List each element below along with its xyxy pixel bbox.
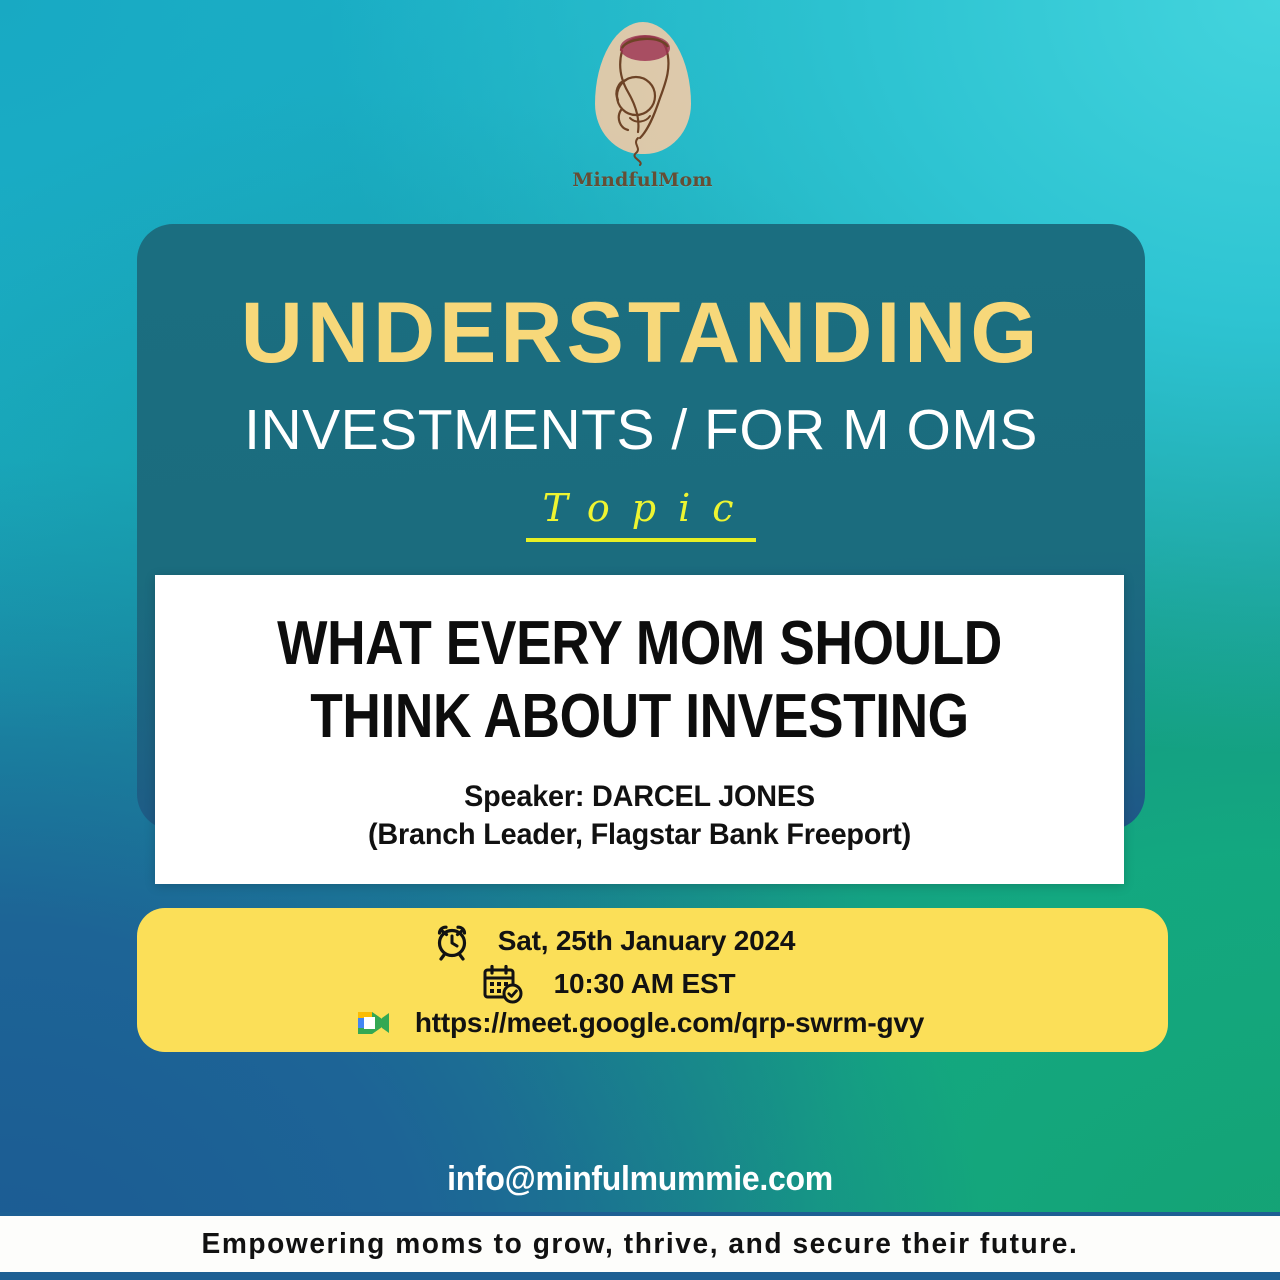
speaker-role: (Branch Leader, Flagstar Bank Freeport): [174, 816, 1104, 854]
page-title: UNDERSTANDING: [137, 290, 1145, 376]
event-time-row: 10:30 AM EST: [137, 964, 1168, 1004]
tagline: Empowering moms to grow, thrive, and sec…: [202, 1228, 1079, 1261]
brand-logo: MindfulMom: [555, 22, 730, 207]
event-date-row: Sat, 25th January 2024: [137, 921, 1168, 961]
speaker-name: Speaker: DARCEL JONES: [174, 778, 1104, 816]
topic-label-row: Topic: [137, 486, 1145, 542]
session-title-line-2: THINK ABOUT INVESTING: [223, 680, 1056, 753]
logo-wordmark: MindfulMom: [555, 169, 730, 191]
alarm-clock-icon: [432, 921, 472, 961]
session-title-line-1: WHAT EVERY MOM SHOULD: [223, 607, 1056, 680]
event-time: 10:30 AM EST: [554, 968, 736, 1000]
google-meet-icon: [351, 1005, 393, 1041]
calendar-check-icon: [482, 964, 524, 1004]
session-panel: WHAT EVERY MOM SHOULD THINK ABOUT INVEST…: [155, 575, 1124, 884]
event-link[interactable]: https://meet.google.com/qrp-swrm-gvy: [415, 1007, 924, 1039]
event-details-box: Sat, 25th January 2024 10:30 AM EST: [137, 908, 1168, 1052]
topic-label: Topic: [526, 486, 755, 542]
contact-email[interactable]: info@minfulmummie.com: [38, 1160, 1241, 1199]
speaker-block: Speaker: DARCEL JONES (Branch Leader, Fl…: [174, 778, 1104, 854]
session-title: WHAT EVERY MOM SHOULD THINK ABOUT INVEST…: [223, 607, 1056, 753]
event-flyer: MindfulMom UNDERSTANDING INVESTMENTS / F…: [0, 0, 1280, 1280]
mother-and-baby-logo-icon: [588, 22, 698, 167]
event-link-row[interactable]: https://meet.google.com/qrp-swrm-gvy: [137, 1005, 1168, 1041]
event-date: Sat, 25th January 2024: [498, 925, 796, 957]
strip-bottom-rule: [0, 1272, 1280, 1280]
tagline-strip: Empowering moms to grow, thrive, and sec…: [0, 1216, 1280, 1272]
page-subtitle: INVESTMENTS / FOR M OMS: [137, 402, 1145, 459]
